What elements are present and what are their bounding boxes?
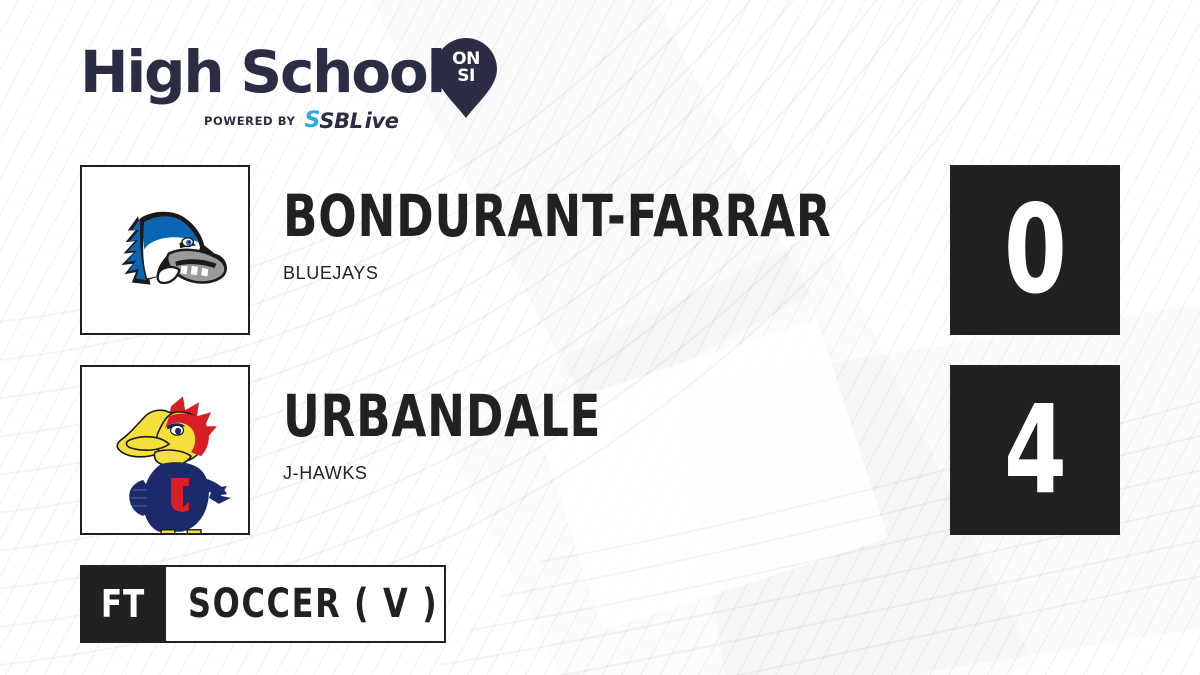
powered-by-block: POWERED BY S SBL ive — [204, 110, 399, 132]
sport-label: SOCCER ( V ) — [188, 584, 438, 624]
map-pin-icon: ON SI — [435, 38, 497, 118]
sport-label-panel: SOCCER ( V ) — [166, 565, 446, 643]
brand-wordmark: High School — [80, 36, 444, 108]
team-name: BONDURANT-FARRAR — [283, 187, 829, 245]
powered-by-label: POWERED BY — [204, 114, 295, 128]
team-mascot: BLUEJAYS — [283, 263, 983, 284]
score-value: 4 — [1004, 389, 1067, 511]
bluejay-head-logo — [80, 165, 250, 335]
sblive-logo: S SBL ive — [304, 110, 398, 132]
pin-si-label: SI — [435, 68, 497, 84]
score-box: 0 — [950, 165, 1120, 335]
brand-logo: High School ON SI POWERED BY S SBL ive — [80, 36, 520, 132]
status-code-badge: FT — [80, 565, 166, 643]
team-text-block: BONDURANT-FARRAR BLUEJAYS — [283, 187, 983, 284]
sblive-s-icon: S — [304, 110, 317, 132]
team-text-block: URBANDALE J-HAWKS — [283, 387, 983, 484]
score-box: 4 — [950, 365, 1120, 535]
score-value: 0 — [1004, 189, 1067, 311]
sblive-wordmark-upper: SBL — [319, 111, 362, 132]
team-mascot: J-HAWKS — [283, 463, 983, 484]
status-bar: FT SOCCER ( V ) — [80, 565, 446, 643]
sblive-wordmark-lower: ive — [365, 111, 399, 132]
status-code-label: FT — [101, 585, 145, 623]
jayhawk-mascot-logo — [80, 365, 250, 535]
team-name: URBANDALE — [283, 387, 829, 445]
pin-on-label: ON — [435, 51, 497, 67]
scoreboard-graphic: High School ON SI POWERED BY S SBL ive — [0, 0, 1200, 675]
